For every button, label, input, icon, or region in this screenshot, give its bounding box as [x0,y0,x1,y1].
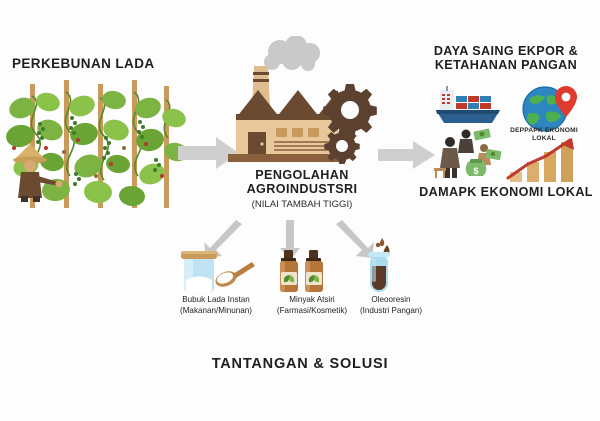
gear-icon [323,84,377,164]
product-sector: (Industri Pangan) [344,306,438,317]
product-name: Oleooresin [344,295,438,306]
center-process-subtitle: (NILAI TAMBAH TIGGI) [222,199,382,210]
jar-with-spoon-icon [178,246,256,294]
center-process-title: PENGOLAHAN AGROINDUSTSRI [228,168,376,196]
essential-oil-bottles-icon [276,248,334,294]
people-money-icon: $ [432,128,504,180]
globe-icon [518,82,580,132]
page-title-plantation: PERKEBUNAN LADA [12,56,187,71]
product-caption: Bubuk Lada Instan (Makanan/Minunan) [158,295,274,317]
product-sector: (Makanan/Minunan) [158,306,274,317]
product-caption: Oleooresin (Industri Pangan) [344,295,438,317]
page-title-challenges: TANTANGAN & SOLUSI [180,356,420,372]
infographic-canvas: PERKEBUNAN LADA [0,0,600,421]
smoke-icon [264,36,320,71]
chart-caption: DEPPAPK EKONOMI LOKAL [505,127,583,143]
right-arrow-icon [378,140,436,170]
factory-icon [224,36,380,164]
product-name: Bubuk Lada Instan [158,295,274,306]
test-tube-icon [362,236,396,294]
cargo-ship-icon [434,86,502,126]
svg-text:$: $ [473,166,478,176]
bar-chart-icon [504,138,584,182]
page-title-export: DAYA SAING EKPOR & KETAHANAN PANGAN [418,44,594,72]
farmer-icon [8,140,66,202]
page-title-impact: DAMAPK EKONOMI LOKAL [418,185,594,199]
